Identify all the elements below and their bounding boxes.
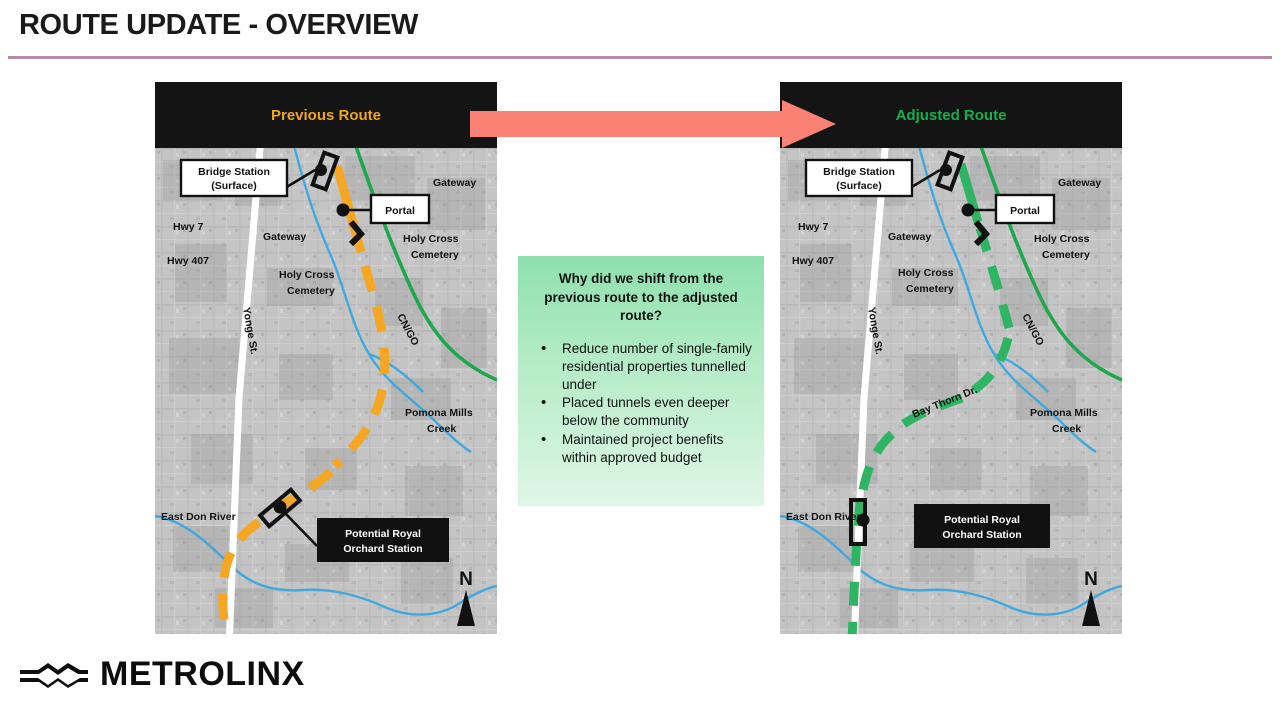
label-holy-cross-1: Holy Cross xyxy=(279,269,335,281)
label-gateway-left: Gateway xyxy=(888,231,931,243)
adjusted-route-map: Hwy 7 Hwy 407 Yonge St. Gateway Gateway … xyxy=(780,148,1122,634)
compass-label: N xyxy=(459,569,473,590)
page-title: ROUTE UPDATE - OVERVIEW xyxy=(19,9,418,42)
label-holy-cross-r1: Holy Cross xyxy=(403,233,459,245)
label-pomona-2: Creek xyxy=(1052,423,1081,435)
callout-bridge-station-line1: Bridge Station xyxy=(198,166,270,178)
label-holy-cross-1: Holy Cross xyxy=(898,267,954,279)
callout-bridge-station: Bridge Station (Surface) xyxy=(806,160,912,196)
previous-route-map: Hwy 7 Hwy 407 Yonge St. Gateway Gateway … xyxy=(155,148,497,634)
label-pomona-1: Pomona Mills xyxy=(1030,407,1098,419)
previous-route-banner: Previous Route xyxy=(155,82,497,148)
label-hwy-407: Hwy 407 xyxy=(792,255,834,267)
callout-bridge-station-line2: (Surface) xyxy=(836,180,882,192)
callout-royal-orchard-line1: Potential Royal xyxy=(944,514,1020,526)
label-hwy-407: Hwy 407 xyxy=(167,255,209,267)
callout-bridge-station: Bridge Station (Surface) xyxy=(181,160,287,196)
slide-root: ROUTE UPDATE - OVERVIEW Previous Route xyxy=(0,0,1280,702)
label-holy-cross-2: Cemetery xyxy=(906,283,954,295)
adjusted-route-panel: Adjusted Route xyxy=(780,82,1122,634)
callout-portal-label: Portal xyxy=(385,205,415,217)
callout-bridge-station-line2: (Surface) xyxy=(211,180,257,192)
label-holy-cross-r2: Cemetery xyxy=(1042,249,1090,261)
callout-bridge-station-line1: Bridge Station xyxy=(823,166,895,178)
label-gateway-right: Gateway xyxy=(433,177,476,189)
label-pomona-2: Creek xyxy=(427,423,456,435)
rationale-heading: Why did we shift from the previous route… xyxy=(530,270,752,326)
label-hwy-7: Hwy 7 xyxy=(173,221,204,233)
callout-royal-orchard-station: Potential Royal Orchard Station xyxy=(317,518,449,562)
label-east-don-river: East Don River xyxy=(786,511,861,523)
label-gateway-right: Gateway xyxy=(1058,177,1101,189)
metrolinx-logo: METROLINX xyxy=(18,655,305,694)
rationale-callout: Why did we shift from the previous route… xyxy=(518,256,764,506)
callout-portal-label: Portal xyxy=(1010,205,1040,217)
metrolinx-logo-icon xyxy=(18,660,90,690)
label-holy-cross-2: Cemetery xyxy=(287,285,335,297)
shift-arrow-icon xyxy=(470,100,836,148)
compass-label: N xyxy=(1084,569,1098,590)
label-holy-cross-r1: Holy Cross xyxy=(1034,233,1090,245)
rationale-bullet: Placed tunnels even deeper below the com… xyxy=(530,394,752,430)
rationale-bullet: Reduce number of single-family residenti… xyxy=(530,340,752,393)
previous-route-panel: Previous Route xyxy=(155,82,497,634)
callout-portal: Portal xyxy=(996,195,1054,223)
label-holy-cross-r2: Cemetery xyxy=(411,249,459,261)
rationale-bullet-list: Reduce number of single-family residenti… xyxy=(530,340,752,467)
callout-portal: Portal xyxy=(371,195,429,223)
rationale-bullet: Maintained project benefits within appro… xyxy=(530,431,752,467)
label-pomona-1: Pomona Mills xyxy=(405,407,473,419)
previous-route-title: Previous Route xyxy=(155,107,497,124)
callout-royal-orchard-line2: Orchard Station xyxy=(343,543,422,555)
label-hwy-7: Hwy 7 xyxy=(798,221,829,233)
brand-wordmark: METROLINX xyxy=(100,655,305,694)
callout-royal-orchard-line1: Potential Royal xyxy=(345,528,421,540)
callout-royal-orchard-station: Potential Royal Orchard Station xyxy=(914,504,1050,548)
callout-royal-orchard-line2: Orchard Station xyxy=(942,529,1021,541)
label-east-don-river: East Don River xyxy=(161,511,236,523)
label-gateway-left: Gateway xyxy=(263,231,306,243)
title-divider xyxy=(8,56,1272,59)
